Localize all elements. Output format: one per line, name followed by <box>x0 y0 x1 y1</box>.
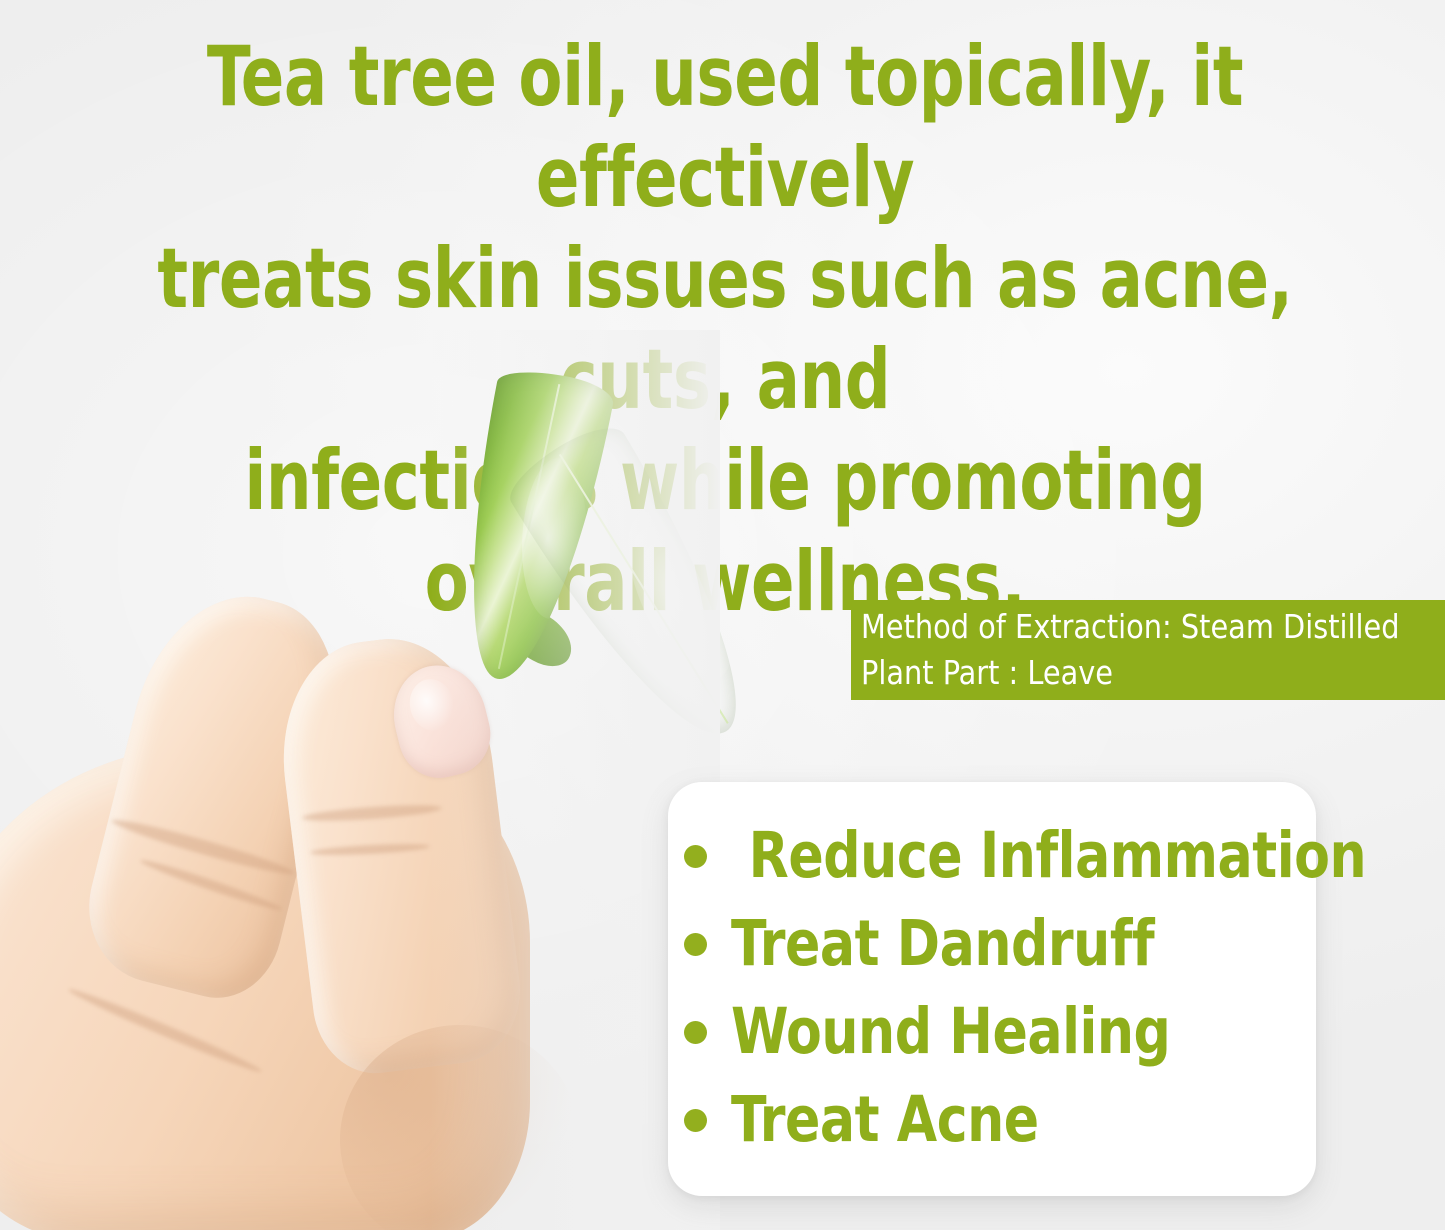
benefit-label: Reduce Inflammation <box>731 823 1366 889</box>
bullet-dot-icon <box>684 933 707 956</box>
method-of-extraction-line: Method of Extraction: Steam Distilled <box>861 604 1427 650</box>
benefit-list-item: Treat Dandruff <box>668 900 1316 988</box>
benefit-list-item: Reduce Inflammation <box>668 812 1316 900</box>
benefit-label: Treat Dandruff <box>731 911 1154 977</box>
tea-leaf-photo <box>0 330 720 1230</box>
poster-canvas: Tea tree oil, used topically, it effecti… <box>0 0 1445 1230</box>
bullet-dot-icon <box>684 1109 707 1132</box>
plant-part-line: Plant Part : Leave <box>861 650 1427 696</box>
benefits-card: Reduce Inflammation Treat Dandruff Wound… <box>668 782 1316 1196</box>
benefit-label: Wound Healing <box>731 999 1170 1065</box>
bullet-dot-icon <box>684 1021 707 1044</box>
extraction-info-band: Method of Extraction: Steam Distilled Pl… <box>851 600 1445 700</box>
benefit-label: Treat Acne <box>731 1087 1039 1153</box>
bullet-dot-icon <box>684 845 707 868</box>
benefit-list-item: Treat Acne <box>668 1076 1316 1164</box>
benefit-list-item: Wound Healing <box>668 988 1316 1076</box>
